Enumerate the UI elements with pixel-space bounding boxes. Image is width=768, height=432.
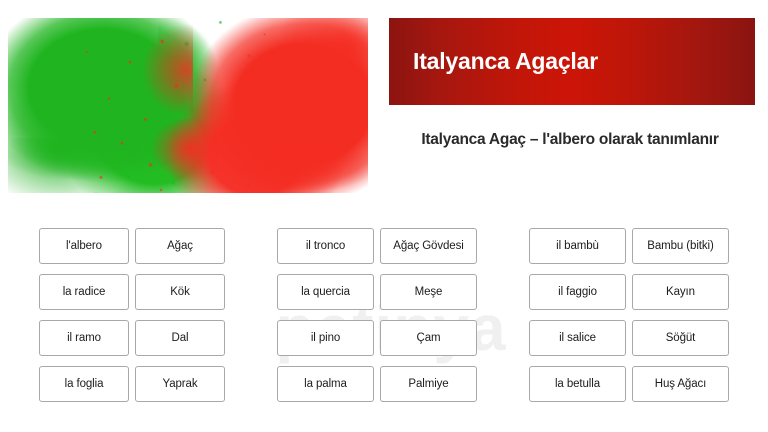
word-pair-row: la quercia Meşe xyxy=(277,274,477,310)
title-banner: Italyanca Agaçlar xyxy=(389,18,755,105)
italian-word-card[interactable]: la betulla xyxy=(529,366,626,402)
word-pair-row: la radice Kök xyxy=(39,274,225,310)
header-column: Italyanca Agaçlar Italyanca Agaç – l'alb… xyxy=(380,18,760,149)
turkish-word-card[interactable]: Bambu (bitki) xyxy=(632,228,729,264)
turkish-word-card[interactable]: Dal xyxy=(135,320,225,356)
word-pair-row: la betulla Huş Ağacı xyxy=(529,366,729,402)
vocabulary-grid: l'albero Ağaç la radice Kök il ramo Dal … xyxy=(0,228,768,402)
italian-word-card[interactable]: il faggio xyxy=(529,274,626,310)
italian-word-card[interactable]: il salice xyxy=(529,320,626,356)
italian-word-card[interactable]: il ramo xyxy=(39,320,129,356)
vocabulary-group-3: il bambù Bambu (bitki) il faggio Kayın i… xyxy=(529,228,729,402)
italian-word-card[interactable]: il pino xyxy=(277,320,374,356)
italian-word-card[interactable]: la palma xyxy=(277,366,374,402)
italian-word-card[interactable]: il tronco xyxy=(277,228,374,264)
turkish-word-card[interactable]: Kök xyxy=(135,274,225,310)
turkish-word-card[interactable]: Kayın xyxy=(632,274,729,310)
italian-word-card[interactable]: la radice xyxy=(39,274,129,310)
page-title: Italyanca Agaçlar xyxy=(413,48,598,75)
word-pair-row: l'albero Ağaç xyxy=(39,228,225,264)
turkish-word-card[interactable]: Çam xyxy=(380,320,477,356)
vocabulary-group-1: l'albero Ağaç la radice Kök il ramo Dal … xyxy=(39,228,225,402)
word-pair-row: la palma Palmiye xyxy=(277,366,477,402)
turkish-word-card[interactable]: Huş Ağacı xyxy=(632,366,729,402)
word-pair-row: il tronco Ağaç Gövdesi xyxy=(277,228,477,264)
italian-word-card[interactable]: il bambù xyxy=(529,228,626,264)
red-powder-dust xyxy=(168,148,368,193)
turkish-word-card[interactable]: Söğüt xyxy=(632,320,729,356)
turkish-word-card[interactable]: Yaprak xyxy=(135,366,225,402)
word-pair-row: il ramo Dal xyxy=(39,320,225,356)
word-pair-row: il salice Söğüt xyxy=(529,320,729,356)
turkish-word-card[interactable]: Ağaç xyxy=(135,228,225,264)
vocabulary-group-2: il tronco Ağaç Gövdesi la quercia Meşe i… xyxy=(277,228,477,402)
turkish-word-card[interactable]: Ağaç Gövdesi xyxy=(380,228,477,264)
turkish-word-card[interactable]: Palmiye xyxy=(380,366,477,402)
italian-word-card[interactable]: l'albero xyxy=(39,228,129,264)
word-pair-row: il pino Çam xyxy=(277,320,477,356)
word-pair-row: il faggio Kayın xyxy=(529,274,729,310)
word-pair-row: il bambù Bambu (bitki) xyxy=(529,228,729,264)
italian-flag-image xyxy=(8,18,368,193)
subtitle-text: Italyanca Agaç – l'albero olarak tanımla… xyxy=(380,131,760,149)
italian-word-card[interactable]: la foglia xyxy=(39,366,129,402)
italian-word-card[interactable]: la quercia xyxy=(277,274,374,310)
turkish-word-card[interactable]: Meşe xyxy=(380,274,477,310)
word-pair-row: la foglia Yaprak xyxy=(39,366,225,402)
